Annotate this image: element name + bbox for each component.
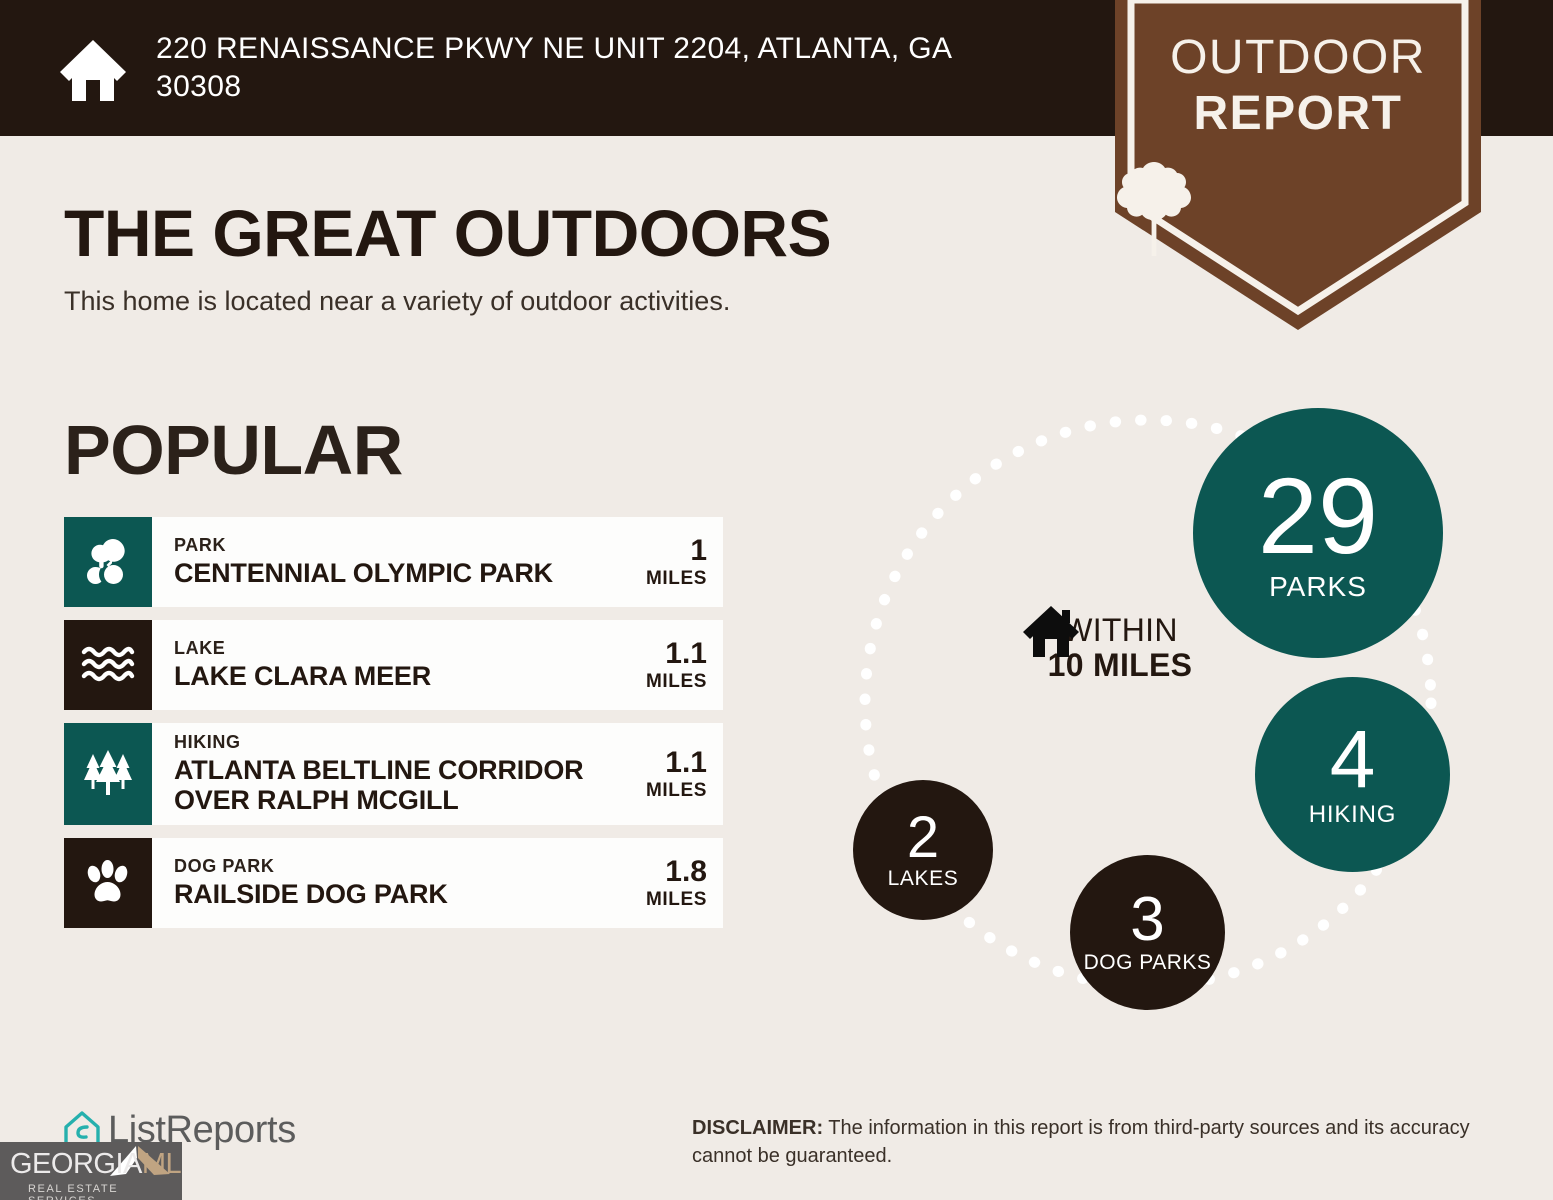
paw-icon	[64, 838, 152, 928]
bubble-lakes: 2 LAKES	[853, 780, 993, 920]
list-item[interactable]: LAKE LAKE CLARA MEER 1.1 MILES	[64, 620, 723, 710]
list-item-distance-unit: MILES	[646, 781, 707, 801]
popular-list: PARK CENTENNIAL OLYMPIC PARK 1 MILES LAK…	[64, 517, 723, 941]
mls-tagline: REAL ESTATE SERVICES	[28, 1183, 182, 1200]
page-title: THE GREAT OUTDOORS	[64, 195, 831, 271]
list-item[interactable]: HIKING ATLANTA BELTLINE CORRIDOR OVER RA…	[64, 723, 723, 825]
bubble-lakes-value: 2	[907, 810, 939, 865]
badge-title: OUTDOOR REPORT	[1115, 34, 1481, 138]
outdoor-bubble-chart: 29 PARKS 4 HIKING 2 LAKES 3 DOG PARKS WI…	[820, 360, 1520, 1020]
list-item-distance-value: 1	[646, 535, 707, 567]
list-item-distance: 1.1 MILES	[634, 638, 707, 691]
list-item-body: PARK CENTENNIAL OLYMPIC PARK 1 MILES	[152, 517, 723, 607]
header-content: 220 RENAISSANCE PKWY NE UNIT 2204, ATLAN…	[56, 30, 1026, 107]
mls-wordmark-mls: MLS	[142, 1148, 182, 1180]
list-item-distance-unit: MILES	[646, 569, 707, 589]
list-item-distance: 1.1 MILES	[634, 747, 707, 800]
bubble-parks-value: 29	[1258, 465, 1378, 568]
diagram-center: WITHIN 10 MILES	[1020, 603, 1220, 683]
list-item[interactable]: DOG PARK RAILSIDE DOG PARK 1.8 MILES	[64, 838, 723, 928]
waves-icon	[64, 620, 152, 710]
badge-line-report: REPORT	[1115, 90, 1481, 138]
list-item-distance-value: 1.1	[646, 638, 707, 670]
list-item-body: LAKE LAKE CLARA MEER 1.1 MILES	[152, 620, 723, 710]
list-item-category: HIKING	[174, 732, 634, 753]
section-heading-popular: POPULAR	[64, 410, 403, 490]
list-item-body: DOG PARK RAILSIDE DOG PARK 1.8 MILES	[152, 838, 723, 928]
list-item-text: DOG PARK RAILSIDE DOG PARK	[174, 856, 448, 909]
list-item-distance-value: 1.8	[646, 856, 707, 888]
bubble-hiking: 4 HIKING	[1255, 677, 1450, 872]
trees-icon	[64, 723, 152, 825]
list-item-category: DOG PARK	[174, 856, 448, 877]
georgia-mls-watermark: GEORGIAMLS REAL ESTATE SERVICES	[0, 1142, 182, 1200]
mls-wordmark-georgia: GEORGIA	[10, 1148, 142, 1180]
bubble-hiking-label: HIKING	[1309, 802, 1396, 827]
bubble-lakes-label: LAKES	[888, 868, 959, 890]
list-item-distance-value: 1.1	[646, 747, 707, 779]
list-item-text: HIKING ATLANTA BELTLINE CORRIDOR OVER RA…	[174, 732, 634, 815]
list-item-category: LAKE	[174, 638, 431, 659]
bubble-parks-label: PARKS	[1269, 572, 1367, 601]
property-address: 220 RENAISSANCE PKWY NE UNIT 2204, ATLAN…	[156, 30, 1026, 107]
list-item-distance-unit: MILES	[646, 672, 707, 692]
bubble-dog-parks: 3 DOG PARKS	[1070, 855, 1225, 1010]
list-item-distance: 1 MILES	[634, 535, 707, 588]
list-item[interactable]: PARK CENTENNIAL OLYMPIC PARK 1 MILES	[64, 517, 723, 607]
outdoor-report-badge: OUTDOOR REPORT	[1115, 0, 1481, 330]
bubble-dog-parks-label: DOG PARKS	[1084, 952, 1212, 974]
bubble-dog-parks-value: 3	[1130, 891, 1164, 950]
page-subtitle: This home is located near a variety of o…	[64, 286, 730, 317]
list-item-distance-unit: MILES	[646, 890, 707, 910]
park-icon	[64, 517, 152, 607]
list-item-name: RAILSIDE DOG PARK	[174, 880, 448, 910]
list-item-name: CENTENNIAL OLYMPIC PARK	[174, 559, 553, 589]
mls-wordmark: GEORGIAMLS	[10, 1148, 182, 1181]
bubble-parks: 29 PARKS	[1193, 408, 1443, 658]
disclaimer-label: DISCLAIMER:	[692, 1117, 823, 1139]
list-item-name: LAKE CLARA MEER	[174, 662, 431, 692]
list-item-distance: 1.8 MILES	[634, 856, 707, 909]
home-icon	[56, 32, 130, 106]
badge-line-outdoor: OUTDOOR	[1115, 34, 1481, 82]
list-item-name: ATLANTA BELTLINE CORRIDOR OVER RALPH MCG…	[174, 756, 634, 815]
disclaimer: DISCLAIMER: The information in this repo…	[692, 1114, 1502, 1171]
bubble-hiking-value: 4	[1330, 721, 1376, 799]
list-item-category: PARK	[174, 535, 553, 556]
list-item-body: HIKING ATLANTA BELTLINE CORRIDOR OVER RA…	[152, 723, 723, 825]
list-item-text: LAKE LAKE CLARA MEER	[174, 638, 431, 691]
list-item-text: PARK CENTENNIAL OLYMPIC PARK	[174, 535, 553, 588]
